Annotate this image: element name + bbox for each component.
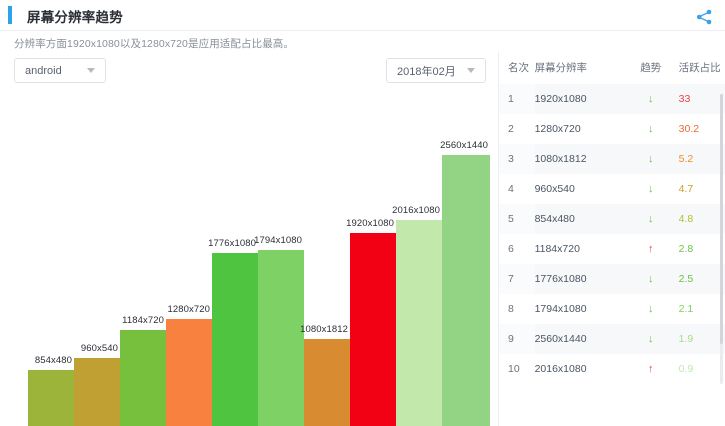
trend-down-icon: ↓ [629, 114, 673, 144]
page-header: 屏幕分辨率趋势 [0, 0, 725, 31]
trend-down-icon: ↓ [629, 264, 673, 294]
chart-bar-label: 1920x1080 [346, 218, 394, 229]
cell-percent: 1.9 [673, 324, 725, 354]
trend-down-icon: ↓ [629, 84, 673, 114]
chart-bar-label: 1080x1812 [300, 324, 348, 335]
cell-rank: 2 [499, 114, 535, 144]
chart-bar-label: 1776x1080 [208, 238, 256, 249]
cell-resolution: 2016x1080 [535, 354, 629, 384]
cell-percent: 4.8 [673, 204, 725, 234]
chart-bar[interactable]: 1184x720 [120, 330, 166, 426]
resolution-trend-page: 屏幕分辨率趋势 分辨率方面1920x1080以及1280x720是应用适配占比最… [0, 0, 725, 426]
trend-up-icon: ↑ [629, 354, 673, 384]
table-body: 11920x1080↓3321280x720↓30.231080x1812↓5.… [499, 84, 725, 384]
chart-bar[interactable]: 2560x1440 [442, 155, 490, 426]
chevron-down-icon [87, 68, 95, 73]
chart-bar[interactable]: 1080x1812 [304, 339, 350, 426]
cell-percent: 0.9 [673, 354, 725, 384]
cell-resolution: 1920x1080 [535, 84, 629, 114]
month-select-value: 2018年02月 [387, 63, 467, 79]
chevron-down-icon [467, 68, 475, 73]
ranking-table-panel: 名次 屏幕分辨率 趋势 活跃占比 11920x1080↓3321280x720↓… [498, 52, 725, 426]
chart-bar[interactable]: 854x480 [28, 370, 74, 426]
cell-rank: 5 [499, 204, 535, 234]
scrollbar-thumb[interactable] [720, 94, 723, 344]
trend-down-icon: ↓ [629, 204, 673, 234]
header-divider [0, 30, 725, 31]
trend-down-icon: ↓ [629, 324, 673, 354]
cell-percent: 33 [673, 84, 725, 114]
cell-rank: 1 [499, 84, 535, 114]
cell-resolution: 1794x1080 [535, 294, 629, 324]
cell-rank: 7 [499, 264, 535, 294]
title-accent-bar [8, 6, 12, 24]
cell-resolution: 1280x720 [535, 114, 629, 144]
cell-percent: 30.2 [673, 114, 725, 144]
platform-select-value: android [15, 65, 87, 77]
trend-down-icon: ↓ [629, 294, 673, 324]
chart-bar-label: 1184x720 [122, 315, 164, 326]
chart-bar[interactable]: 2016x1080 [396, 220, 442, 426]
table-header-row: 名次 屏幕分辨率 趋势 活跃占比 [499, 52, 725, 84]
cell-rank: 9 [499, 324, 535, 354]
chart-bar-label: 1280x720 [167, 304, 210, 315]
trend-down-icon: ↓ [629, 174, 673, 204]
chart-bar-label: 1794x1080 [254, 235, 302, 246]
cell-percent: 2.5 [673, 264, 725, 294]
cell-rank: 8 [499, 294, 535, 324]
cell-rank: 6 [499, 234, 535, 264]
chart-bar-label: 960x540 [81, 343, 118, 354]
chart-bar-label: 2560x1440 [440, 140, 488, 151]
chart-bar[interactable]: 960x540 [74, 358, 120, 426]
column-header-percent: 活跃占比 [673, 52, 725, 84]
chart-bar[interactable]: 1280x720 [166, 319, 212, 426]
cell-rank: 10 [499, 354, 535, 384]
cell-percent: 5.2 [673, 144, 725, 174]
cell-rank: 3 [499, 144, 535, 174]
chart-bar-label: 854x480 [35, 355, 72, 366]
column-header-trend: 趋势 [629, 52, 673, 84]
cell-resolution: 854x480 [535, 204, 629, 234]
table-row[interactable]: 21280x720↓30.2 [499, 114, 725, 144]
table-row[interactable]: 31080x1812↓5.2 [499, 144, 725, 174]
table-row[interactable]: 92560x1440↓1.9 [499, 324, 725, 354]
table-row[interactable]: 102016x1080↑0.9 [499, 354, 725, 384]
column-header-resolution: 屏幕分辨率 [535, 52, 629, 84]
cell-percent: 4.7 [673, 174, 725, 204]
table-row[interactable]: 4960x540↓4.7 [499, 174, 725, 204]
chart-bar[interactable]: 1776x1080 [212, 253, 258, 426]
page-title: 屏幕分辨率趋势 [27, 6, 123, 26]
column-header-rank: 名次 [499, 52, 535, 84]
trend-down-icon: ↓ [629, 144, 673, 174]
ranking-table: 名次 屏幕分辨率 趋势 活跃占比 11920x1080↓3321280x720↓… [499, 52, 725, 384]
cell-rank: 4 [499, 174, 535, 204]
cell-percent: 2.8 [673, 234, 725, 264]
trend-up-icon: ↑ [629, 234, 673, 264]
chart-bar-label: 2016x1080 [392, 205, 440, 216]
cell-percent: 2.1 [673, 294, 725, 324]
cell-resolution: 960x540 [535, 174, 629, 204]
table-row[interactable]: 71776x1080↓2.5 [499, 264, 725, 294]
cell-resolution: 1184x720 [535, 234, 629, 264]
cell-resolution: 2560x1440 [535, 324, 629, 354]
page-subtitle: 分辨率方面1920x1080以及1280x720是应用适配占比最高。 [14, 36, 294, 51]
cell-resolution: 1080x1812 [535, 144, 629, 174]
table-row[interactable]: 5854x480↓4.8 [499, 204, 725, 234]
resolution-bar-chart: 854x480960x5401184x7201280x7201776x10801… [0, 78, 498, 418]
table-row[interactable]: 11920x1080↓33 [499, 84, 725, 114]
chart-bar[interactable]: 1920x1080 [350, 233, 396, 426]
table-header: 名次 屏幕分辨率 趋势 活跃占比 [499, 52, 725, 84]
chart-bar[interactable]: 1794x1080 [258, 250, 304, 426]
share-icon[interactable] [696, 9, 713, 25]
table-row[interactable]: 81794x1080↓2.1 [499, 294, 725, 324]
table-row[interactable]: 61184x720↑2.8 [499, 234, 725, 264]
cell-resolution: 1776x1080 [535, 264, 629, 294]
